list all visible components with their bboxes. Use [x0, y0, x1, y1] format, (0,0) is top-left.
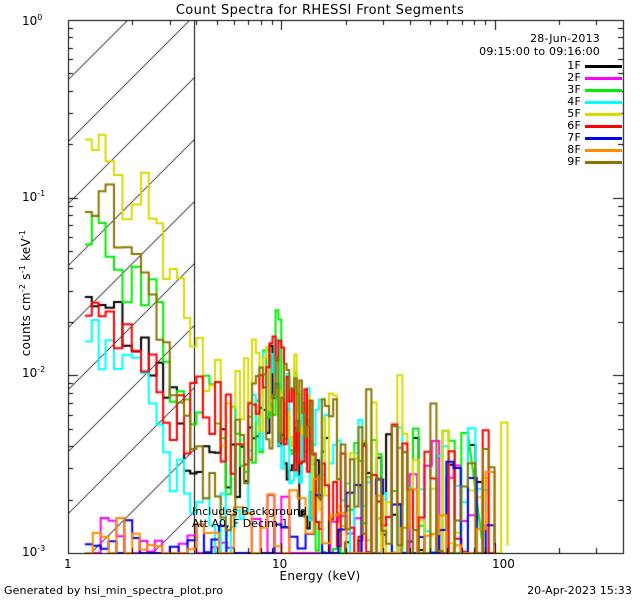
- legend-item[interactable]: 1F: [544, 60, 622, 72]
- x-axis-tick-label: 1: [64, 557, 72, 571]
- y-axis-tick-label: 10-3: [22, 544, 45, 559]
- observation-time-interval: 09:15:00 to 09:16:00: [479, 46, 600, 57]
- legend-color-swatch: [585, 77, 622, 80]
- spectra-plot-window: Count Spectra for RHESSI Front Segments …: [0, 0, 640, 600]
- legend-item[interactable]: 6F: [544, 120, 622, 132]
- legend-item[interactable]: 9F: [544, 156, 622, 168]
- legend-item[interactable]: 8F: [544, 144, 622, 156]
- footer-timestamp: 20-Apr-2023 15:33: [527, 585, 632, 596]
- legend-color-swatch: [585, 65, 622, 68]
- legend-item-label: 9F: [567, 156, 581, 168]
- annotation-includes-background: Includes Background: [192, 506, 307, 517]
- legend-color-swatch: [585, 149, 622, 152]
- x-axis-title: Energy (keV): [0, 570, 640, 582]
- series-legend: 1F 2F 3F 4F 5F 6F 7F 8F: [544, 60, 622, 168]
- x-axis-tick-label: 100: [492, 557, 515, 571]
- legend-color-swatch: [585, 101, 622, 104]
- legend-color-swatch: [585, 137, 622, 140]
- legend-color-swatch: [585, 161, 622, 164]
- legend-color-swatch: [585, 125, 622, 128]
- legend-color-swatch: [585, 113, 622, 116]
- observation-date: 28-Jun-2013: [530, 33, 600, 44]
- legend-item[interactable]: 7F: [544, 132, 622, 144]
- y-axis-title: counts cm-2 s-1 keV-1: [19, 183, 32, 403]
- legend-item[interactable]: 3F: [544, 84, 622, 96]
- y-axis-tick-label: 100: [22, 13, 42, 28]
- legend-item[interactable]: 5F: [544, 108, 622, 120]
- page-title: Count Spectra for RHESSI Front Segments: [0, 4, 640, 17]
- annotation-attenuator-state: Att A0, F Decim 1: [192, 518, 288, 529]
- footer-generator-text: Generated by hsi_min_spectra_plot.pro: [4, 585, 223, 596]
- legend-color-swatch: [585, 89, 622, 92]
- legend-item[interactable]: 4F: [544, 96, 622, 108]
- legend-item[interactable]: 2F: [544, 72, 622, 84]
